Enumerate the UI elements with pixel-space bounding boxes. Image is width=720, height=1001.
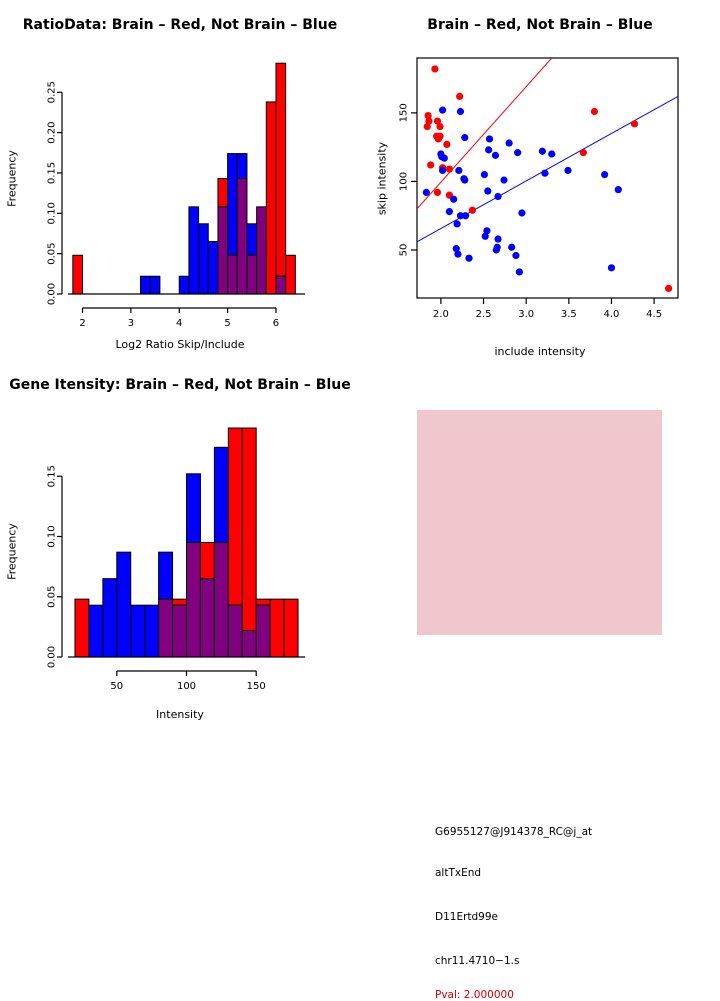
hist-bar bbox=[266, 102, 276, 294]
scatter-point bbox=[485, 146, 492, 153]
hist-bar bbox=[256, 599, 270, 605]
x-tick-label: 50 bbox=[110, 681, 123, 692]
scatter-point bbox=[427, 161, 434, 168]
scatter-point bbox=[484, 187, 491, 194]
y-tick-label: 0.10 bbox=[47, 525, 58, 547]
hist-bar-overlap bbox=[173, 605, 187, 657]
scatter-point bbox=[482, 233, 489, 240]
scatter-point bbox=[443, 141, 450, 148]
scatter-point bbox=[450, 196, 457, 203]
hist-bar bbox=[208, 242, 218, 294]
hist-bar-overlap bbox=[247, 255, 257, 294]
scatter-point bbox=[580, 149, 587, 156]
hist-bar bbox=[159, 552, 173, 599]
scatter-point bbox=[493, 246, 500, 253]
scatter-point bbox=[548, 150, 555, 157]
scatter-point bbox=[539, 148, 546, 155]
info-background bbox=[417, 410, 662, 635]
hist-bar bbox=[75, 599, 89, 657]
scatter-point bbox=[434, 189, 441, 196]
hist-bar bbox=[214, 447, 228, 542]
scatter-point bbox=[494, 235, 501, 242]
y-tick-label: 100 bbox=[399, 172, 410, 191]
scatter-point bbox=[465, 255, 472, 262]
ratio-histogram-canvas: 0.000.050.100.150.200.2523456 bbox=[0, 0, 360, 360]
scatter-point bbox=[439, 107, 446, 114]
hist-bar bbox=[286, 255, 296, 294]
info-line-locus: chr11.4710−1.s bbox=[435, 955, 519, 967]
scatter-point bbox=[454, 251, 461, 258]
hist-bar-overlap bbox=[242, 630, 256, 657]
x-tick-label: 2.0 bbox=[433, 309, 449, 320]
gene-histogram-canvas: 0.000.050.100.1550100150 bbox=[0, 360, 360, 720]
scatter-point bbox=[439, 167, 446, 174]
scatter-point bbox=[435, 135, 442, 142]
scatter-point bbox=[665, 285, 672, 292]
fit-lines bbox=[417, 58, 678, 242]
scatter-point bbox=[453, 220, 460, 227]
scatter-point bbox=[457, 108, 464, 115]
hist-bar bbox=[150, 276, 160, 294]
hist-bar-overlap bbox=[214, 543, 228, 657]
scatter-point bbox=[514, 149, 521, 156]
y-tick-label: 0.00 bbox=[47, 646, 58, 668]
scatter-xaxis-label: include intensity bbox=[360, 345, 720, 358]
scatter-point bbox=[461, 176, 468, 183]
scatter-point bbox=[518, 209, 525, 216]
panel-ratio-histogram: RatioData: Brain – Red, Not Brain – Blue… bbox=[0, 0, 360, 360]
scatter-point bbox=[631, 120, 638, 127]
scatter-point bbox=[436, 123, 443, 130]
scatter-points bbox=[423, 65, 672, 292]
y-tick-label: 0.15 bbox=[47, 162, 58, 184]
y-tick-label: 0.05 bbox=[47, 243, 58, 265]
hist-bar bbox=[73, 255, 83, 294]
hist-bar bbox=[276, 63, 286, 276]
hist-bar bbox=[145, 605, 159, 657]
x-tick-label: 5 bbox=[224, 318, 230, 329]
scatter-point bbox=[469, 207, 476, 214]
hist-bar bbox=[284, 599, 298, 657]
gene-panel-title: Gene Itensity: Brain – Red, Not Brain – … bbox=[0, 377, 360, 393]
x-tick-label: 4.5 bbox=[646, 309, 662, 320]
scatter-point bbox=[446, 208, 453, 215]
y-tick-label: 0.00 bbox=[47, 283, 58, 305]
svg-ratio-bars bbox=[73, 63, 295, 294]
hist-bar-overlap bbox=[200, 579, 214, 657]
hist-bar bbox=[237, 154, 247, 179]
x-tick-label: 2 bbox=[79, 318, 85, 329]
r-multipanel-figure: RatioData: Brain – Red, Not Brain – Blue… bbox=[0, 0, 720, 720]
scatter-panel-title: Brain – Red, Not Brain – Blue bbox=[360, 17, 720, 33]
hist-bar bbox=[228, 428, 242, 605]
scatter-point bbox=[492, 152, 499, 159]
scatter-point bbox=[608, 264, 615, 271]
scatter-point bbox=[516, 268, 523, 275]
x-tick-label: 4 bbox=[176, 318, 182, 329]
scatter-point bbox=[601, 171, 608, 178]
info-line-event-type: altTxEnd bbox=[435, 867, 481, 879]
hist-bar bbox=[228, 154, 238, 256]
scatter-point bbox=[455, 167, 462, 174]
y-tick-label: 0.10 bbox=[47, 202, 58, 224]
hist-bar bbox=[247, 224, 257, 255]
x-tick-label: 150 bbox=[247, 681, 266, 692]
scatter-point bbox=[615, 186, 622, 193]
scatter-point bbox=[564, 167, 571, 174]
scatter-canvas: 501001502.02.53.03.54.04.5 bbox=[360, 0, 720, 360]
x-tick-label: 2.5 bbox=[476, 309, 492, 320]
x-tick-label: 4.0 bbox=[604, 309, 620, 320]
ratio-yaxis-label: Frequency bbox=[6, 129, 19, 229]
scatter-point bbox=[486, 135, 493, 142]
scatter-yaxis-label: skip intensity bbox=[376, 129, 389, 229]
scatter-point bbox=[446, 165, 453, 172]
hist-bar bbox=[187, 474, 201, 543]
scatter-point bbox=[591, 108, 598, 115]
scatter-point bbox=[462, 212, 469, 219]
scatter-point bbox=[423, 189, 430, 196]
scatter-point bbox=[461, 134, 468, 141]
scatter-point bbox=[508, 244, 515, 251]
y-tick-label: 150 bbox=[399, 103, 410, 122]
info-line-pval: Pval: 2.000000 bbox=[435, 989, 514, 1001]
hist-bar bbox=[117, 552, 131, 657]
hist-bar bbox=[242, 428, 256, 630]
hist-bar bbox=[131, 605, 145, 657]
scatter-point bbox=[494, 193, 501, 200]
panel-gene-intensity-histogram: Gene Itensity: Brain – Red, Not Brain – … bbox=[0, 360, 360, 720]
scatter-point bbox=[512, 252, 519, 259]
hist-bar bbox=[200, 543, 214, 579]
scatter-point bbox=[500, 176, 507, 183]
svg-gene-bars bbox=[75, 428, 298, 657]
hist-bar bbox=[270, 599, 284, 657]
scatter-point bbox=[481, 171, 488, 178]
hist-bar bbox=[199, 224, 209, 294]
hist-bar-overlap bbox=[228, 605, 242, 657]
svg-gene-axes: 0.000.050.100.1550100150 bbox=[47, 465, 306, 692]
hist-bar-overlap bbox=[257, 207, 267, 294]
hist-bar-overlap bbox=[237, 179, 247, 294]
y-tick-label: 0.20 bbox=[47, 121, 58, 143]
hist-bar-overlap bbox=[218, 207, 228, 294]
hist-bar bbox=[141, 276, 151, 294]
ratio-xaxis-label: Log2 Ratio Skip/Include bbox=[0, 338, 360, 351]
hist-bar bbox=[103, 579, 117, 657]
hist-bar-overlap bbox=[256, 605, 270, 657]
hist-bar bbox=[179, 276, 189, 294]
scatter-point bbox=[431, 65, 438, 72]
y-tick-label: 0.05 bbox=[47, 586, 58, 608]
hist-bar-overlap bbox=[159, 599, 173, 657]
hist-bar-overlap bbox=[228, 255, 238, 294]
x-tick-label: 100 bbox=[177, 681, 196, 692]
panel-gene-info: G6955127@J914378_RC@j_at altTxEnd D11Ert… bbox=[360, 360, 720, 720]
hist-bar-overlap bbox=[276, 276, 286, 294]
x-tick-label: 3.0 bbox=[518, 309, 534, 320]
y-tick-label: 50 bbox=[399, 244, 410, 257]
panel-intensity-scatter: Brain – Red, Not Brain – Blue 501001502.… bbox=[360, 0, 720, 360]
hist-bar bbox=[89, 605, 103, 657]
scatter-point bbox=[506, 139, 513, 146]
info-line-gene-symbol: D11Ertd99e bbox=[435, 911, 498, 923]
scatter-point bbox=[456, 93, 463, 100]
gene-xaxis-label: Intensity bbox=[0, 708, 360, 721]
info-line-probeset: G6955127@J914378_RC@j_at bbox=[435, 826, 592, 838]
gene-yaxis-label: Frequency bbox=[6, 502, 19, 602]
x-tick-label: 3.5 bbox=[561, 309, 577, 320]
scatter-point bbox=[424, 123, 431, 130]
hist-bar bbox=[218, 179, 228, 207]
ratio-panel-title: RatioData: Brain – Red, Not Brain – Blue bbox=[0, 17, 360, 33]
x-tick-label: 3 bbox=[128, 318, 134, 329]
y-tick-label: 0.15 bbox=[47, 465, 58, 487]
plot-frame bbox=[417, 58, 678, 298]
scatter-point bbox=[441, 155, 448, 162]
hist-bar bbox=[189, 207, 199, 294]
scatter-point bbox=[541, 170, 548, 177]
x-tick-label: 6 bbox=[273, 318, 279, 329]
y-tick-label: 0.25 bbox=[47, 81, 58, 103]
hist-bar bbox=[173, 599, 187, 605]
hist-bar-overlap bbox=[187, 543, 201, 657]
